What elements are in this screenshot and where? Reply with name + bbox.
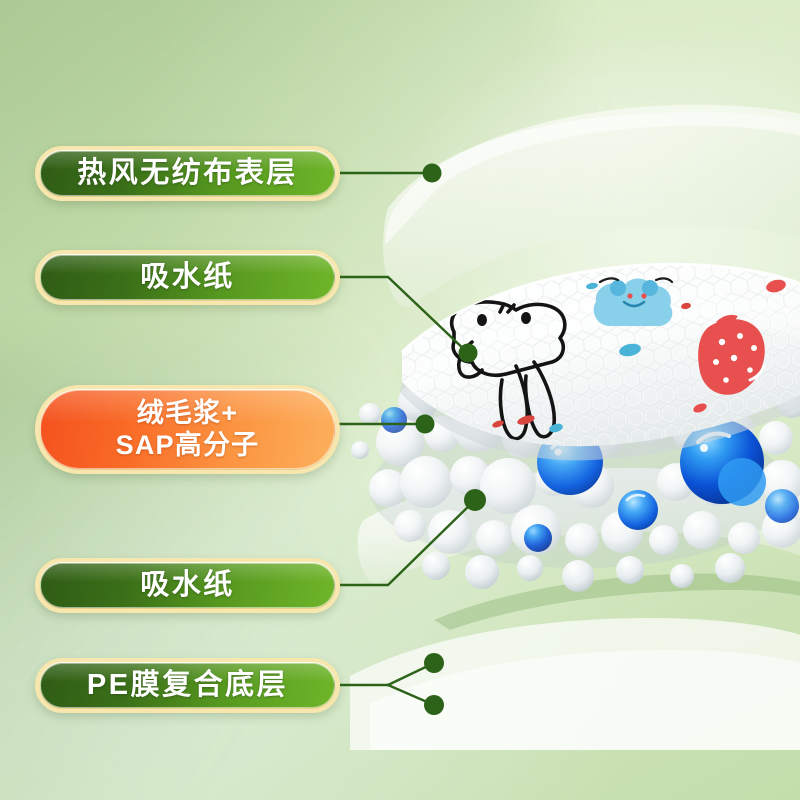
callout-pill-acquisition-paper-top[interactable]: 吸水纸 bbox=[35, 250, 340, 305]
connector-dot-core bbox=[416, 415, 435, 434]
callout-label-acquisition-paper-top: 吸水纸 bbox=[140, 260, 235, 294]
infographic-canvas: 热风无纺布表层 吸水纸 绒毛浆+ SAP高分子 吸水纸 PE膜复合底层 bbox=[0, 0, 800, 800]
connector-dot-top-sheet bbox=[423, 164, 442, 183]
callout-pill-top-sheet[interactable]: 热风无纺布表层 bbox=[35, 146, 340, 201]
callout-pill-acquisition-paper-bottom[interactable]: 吸水纸 bbox=[35, 558, 340, 613]
callout-pill-fluff-pulp-sap-core[interactable]: 绒毛浆+ SAP高分子 bbox=[35, 385, 340, 474]
connector-dot-pe-film-lower bbox=[424, 695, 444, 715]
connector-line-acquisition-paper-bottom bbox=[340, 500, 475, 585]
connector-line-acquisition-paper-top bbox=[340, 277, 468, 353]
callout-label-top-sheet: 热风无纺布表层 bbox=[77, 156, 298, 190]
callout-label-acquisition-paper-bottom: 吸水纸 bbox=[140, 568, 235, 602]
connector-dot-acquisition-paper-bottom bbox=[464, 489, 486, 511]
callout-label-pe-film-backsheet: PE膜复合底层 bbox=[87, 668, 288, 702]
connector-dot-acquisition-paper-top bbox=[459, 344, 478, 363]
callout-label-fluff-pulp-sap-core: 绒毛浆+ SAP高分子 bbox=[116, 398, 260, 462]
connector-dot-pe-film-upper bbox=[424, 653, 444, 673]
callout-pill-pe-film-backsheet[interactable]: PE膜复合底层 bbox=[35, 658, 340, 713]
